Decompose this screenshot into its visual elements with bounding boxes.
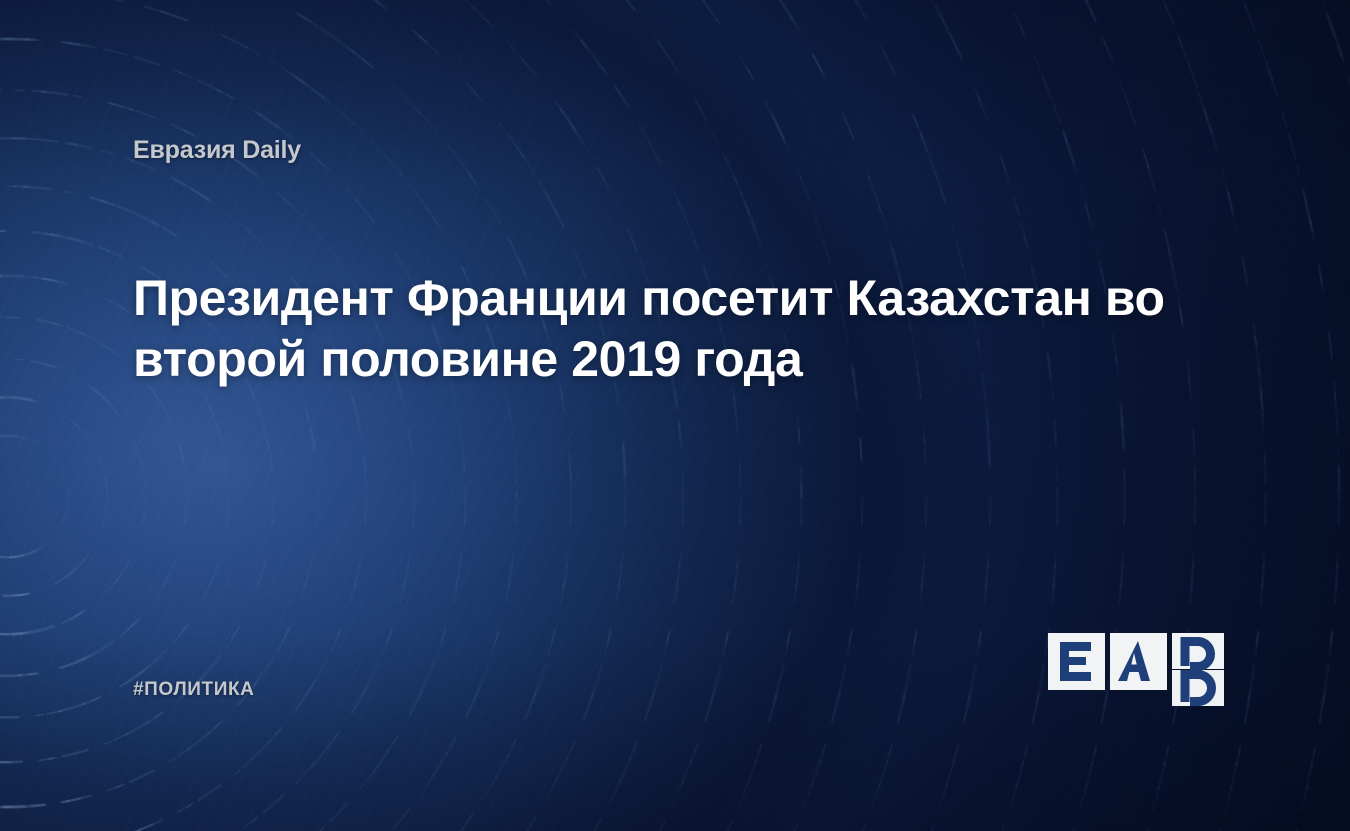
brand-wordmark[interactable]: Евразия Daily	[133, 136, 301, 165]
news-social-card: Евразия Daily Президент Франции посетит …	[0, 0, 1350, 831]
card-content: Евразия Daily Президент Франции посетит …	[0, 0, 1350, 831]
category-tag[interactable]: #ПОЛИТИКА	[133, 679, 255, 701]
ead-logo[interactable]	[1046, 626, 1226, 710]
page-title: Президент Франции посетит Казахстан во в…	[133, 268, 1203, 390]
